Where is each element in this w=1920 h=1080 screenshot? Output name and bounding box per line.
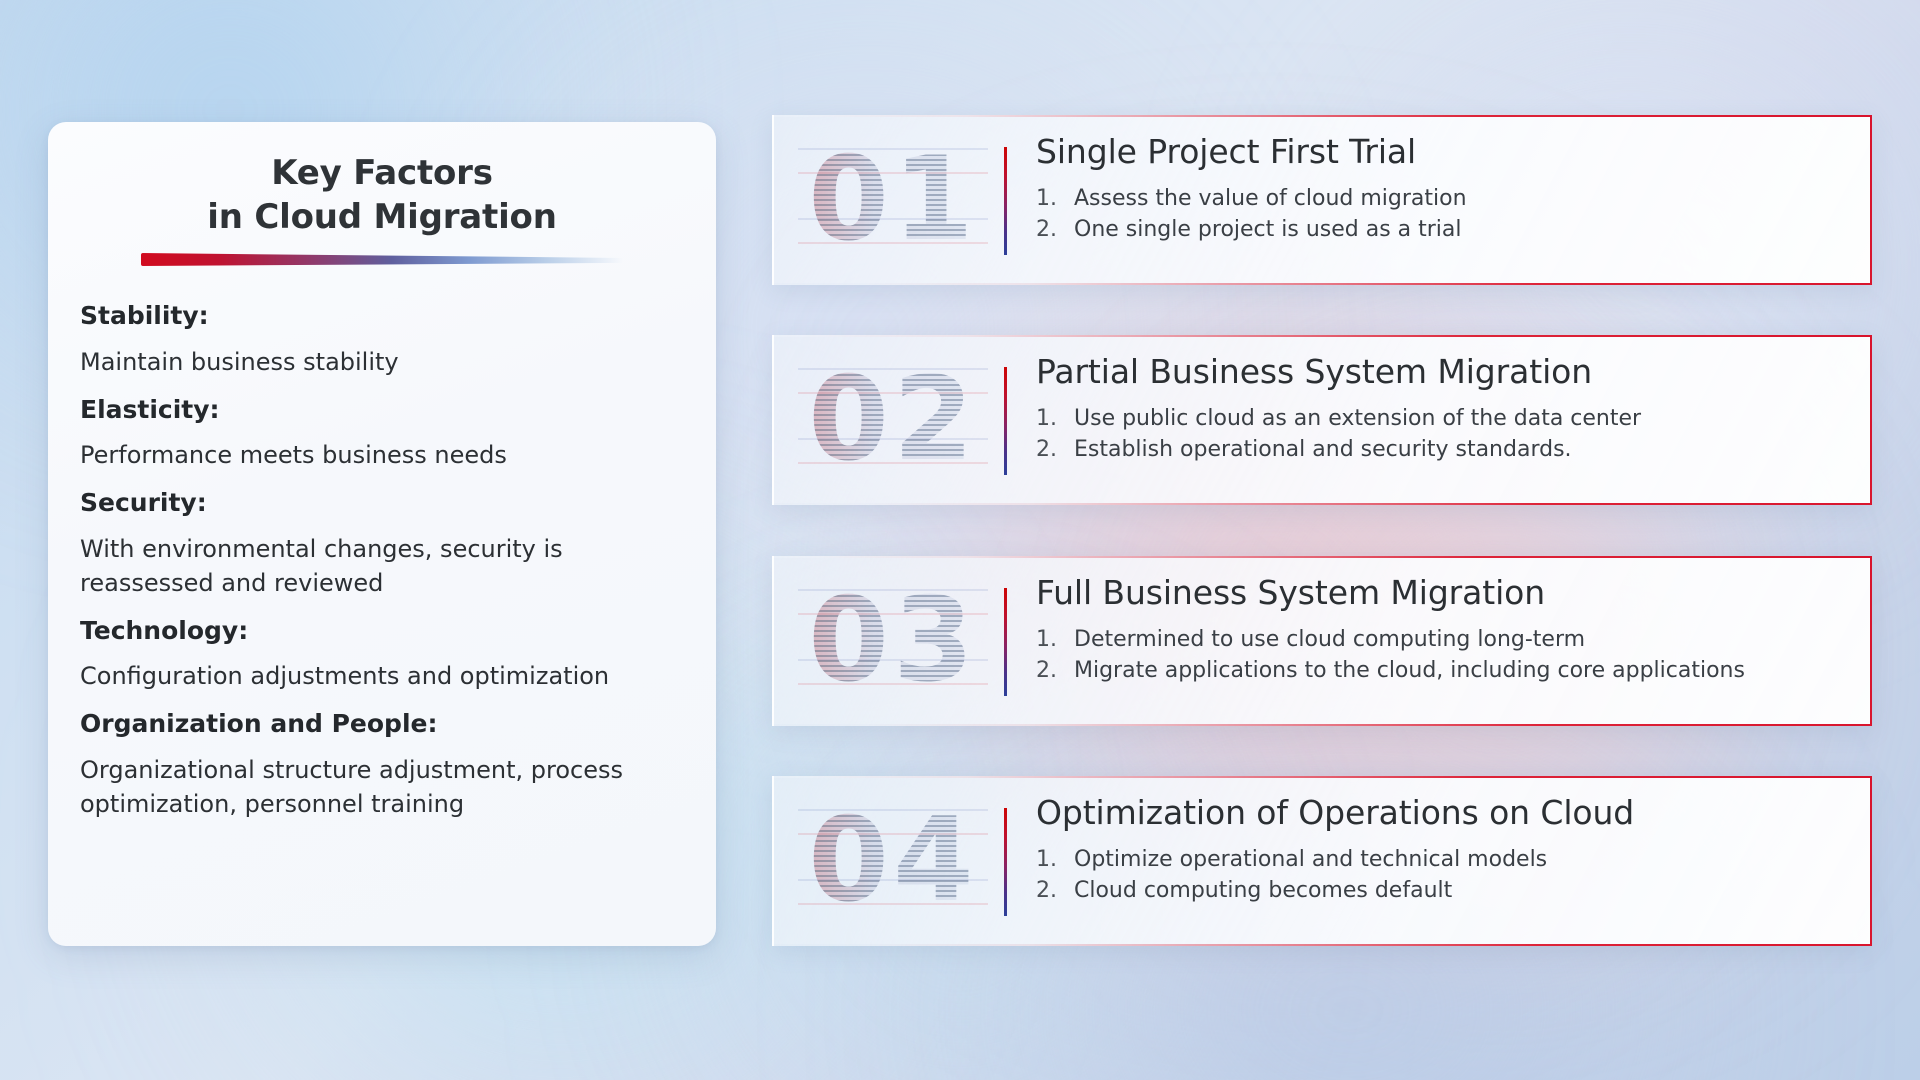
step-list-item-number: 2. bbox=[1036, 655, 1062, 686]
step-list-item-text: Use public cloud as an extension of the … bbox=[1074, 403, 1641, 434]
step-list-item-number: 2. bbox=[1036, 875, 1062, 906]
step-list-item-text: Assess the value of cloud migration bbox=[1074, 183, 1467, 214]
factor-description: With environmental changes, security is … bbox=[80, 532, 686, 600]
step-list-item-text: Establish operational and security stand… bbox=[1074, 434, 1572, 465]
step-list-item: 2.One single project is used as a trial bbox=[1036, 214, 1852, 245]
step-card-04: 04Optimization of Operations on Cloud1.O… bbox=[772, 776, 1872, 946]
step-list-item: 2.Cloud computing becomes default bbox=[1036, 875, 1852, 906]
step-list-item-number: 1. bbox=[1036, 183, 1062, 214]
step-list-item: 1.Assess the value of cloud migration bbox=[1036, 183, 1852, 214]
step-list-item-text: Optimize operational and technical model… bbox=[1074, 844, 1547, 875]
panel-title-line-1: Key Factors bbox=[48, 152, 716, 196]
factor-label: Security: bbox=[80, 487, 686, 520]
factor-label: Stability: bbox=[80, 300, 686, 333]
step-accent-bar bbox=[1004, 147, 1007, 255]
step-item-list: 1.Optimize operational and technical mod… bbox=[1036, 844, 1852, 906]
step-list-item: 1.Optimize operational and technical mod… bbox=[1036, 844, 1852, 875]
step-item-list: 1.Determined to use cloud computing long… bbox=[1036, 624, 1852, 686]
factor-block: Stability:Maintain business stability bbox=[80, 300, 686, 379]
step-number-watermark: 02 bbox=[798, 354, 988, 486]
step-list-item-number: 2. bbox=[1036, 214, 1062, 245]
factor-description: Maintain business stability bbox=[80, 345, 686, 379]
factor-block: Security:With environmental changes, sec… bbox=[80, 487, 686, 600]
panel-title-line-2: in Cloud Migration bbox=[48, 196, 716, 240]
step-item-list: 1.Use public cloud as an extension of th… bbox=[1036, 403, 1852, 465]
step-list-item-text: Cloud computing becomes default bbox=[1074, 875, 1452, 906]
step-list-item: 1.Determined to use cloud computing long… bbox=[1036, 624, 1852, 655]
step-list-item: 2.Migrate applications to the cloud, inc… bbox=[1036, 655, 1852, 686]
step-number-watermark: 03 bbox=[798, 575, 988, 707]
factor-label: Technology: bbox=[80, 615, 686, 648]
step-title: Partial Business System Migration bbox=[1036, 351, 1852, 393]
step-list-item-text: Migrate applications to the cloud, inclu… bbox=[1074, 655, 1745, 686]
factors-list: Stability:Maintain business stabilityEla… bbox=[48, 266, 716, 821]
step-content: Partial Business System Migration1.Use p… bbox=[1036, 351, 1852, 465]
factor-description: Configuration adjustments and optimizati… bbox=[80, 659, 686, 693]
title-gradient-rule bbox=[141, 253, 623, 266]
step-number-watermark: 04 bbox=[798, 795, 988, 927]
step-list-item: 2.Establish operational and security sta… bbox=[1036, 434, 1852, 465]
factor-block: Organization and People:Organizational s… bbox=[80, 708, 686, 821]
factor-description: Organizational structure adjustment, pro… bbox=[80, 753, 686, 821]
step-list-item: 1.Use public cloud as an extension of th… bbox=[1036, 403, 1852, 434]
step-content: Optimization of Operations on Cloud1.Opt… bbox=[1036, 792, 1852, 906]
step-list-item-number: 1. bbox=[1036, 624, 1062, 655]
title-gradient-rule-shape bbox=[141, 253, 623, 266]
step-title: Single Project First Trial bbox=[1036, 131, 1852, 173]
factor-block: Technology:Configuration adjustments and… bbox=[80, 615, 686, 694]
step-list-item-number: 1. bbox=[1036, 403, 1062, 434]
step-accent-bar bbox=[1004, 808, 1007, 916]
step-accent-bar bbox=[1004, 588, 1007, 696]
factor-description: Performance meets business needs bbox=[80, 438, 686, 472]
step-card-03: 03Full Business System Migration1.Determ… bbox=[772, 556, 1872, 726]
step-card-02: 02Partial Business System Migration1.Use… bbox=[772, 335, 1872, 505]
step-title: Full Business System Migration bbox=[1036, 572, 1852, 614]
key-factors-panel: Key Factors in Cloud Migration Stability… bbox=[48, 122, 716, 946]
step-accent-bar bbox=[1004, 367, 1007, 475]
step-content: Full Business System Migration1.Determin… bbox=[1036, 572, 1852, 686]
step-list-item-text: Determined to use cloud computing long-t… bbox=[1074, 624, 1585, 655]
factor-label: Organization and People: bbox=[80, 708, 686, 741]
step-list-item-text: One single project is used as a trial bbox=[1074, 214, 1462, 245]
panel-title: Key Factors in Cloud Migration bbox=[48, 122, 716, 239]
step-content: Single Project First Trial1.Assess the v… bbox=[1036, 131, 1852, 245]
step-number-watermark: 01 bbox=[798, 134, 988, 266]
step-card-01: 01Single Project First Trial1.Assess the… bbox=[772, 115, 1872, 285]
factor-label: Elasticity: bbox=[80, 394, 686, 427]
step-list-item-number: 1. bbox=[1036, 844, 1062, 875]
step-item-list: 1.Assess the value of cloud migration2.O… bbox=[1036, 183, 1852, 245]
step-title: Optimization of Operations on Cloud bbox=[1036, 792, 1852, 834]
step-list-item-number: 2. bbox=[1036, 434, 1062, 465]
factor-block: Elasticity:Performance meets business ne… bbox=[80, 394, 686, 473]
